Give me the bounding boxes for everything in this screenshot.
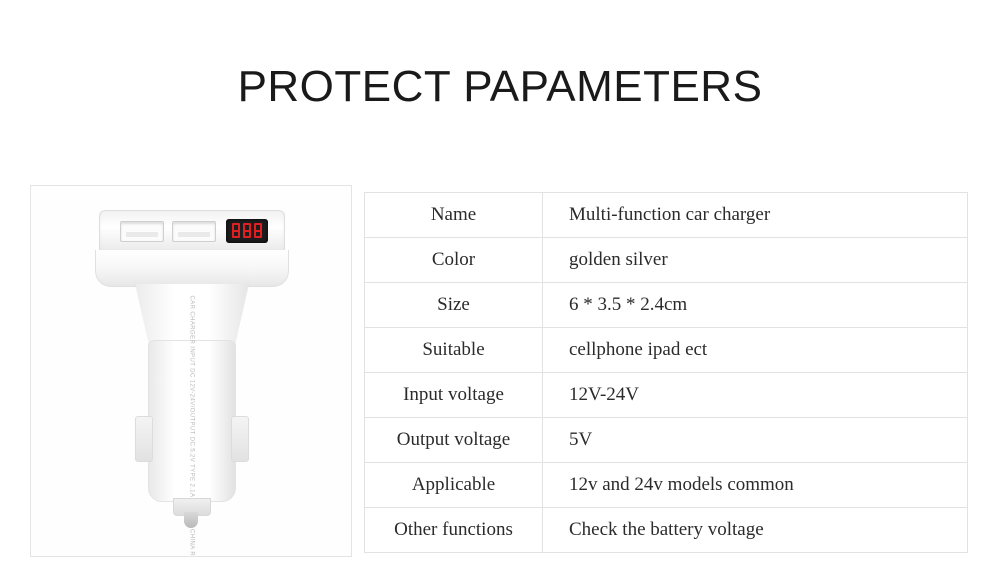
spec-label: Input voltage (365, 373, 543, 418)
spec-label: Name (365, 193, 543, 238)
spec-label: Color (365, 238, 543, 283)
specification-table: Name Multi-function car charger Color go… (364, 192, 968, 553)
spec-label: Output voltage (365, 418, 543, 463)
charger-head (99, 210, 285, 254)
product-image-panel: CAR CHARGER INPUT DC 12V-24V/OUTPUT DC 5… (30, 185, 352, 557)
charger-tip (184, 512, 198, 528)
spec-value: cellphone ipad ect (543, 328, 968, 373)
charger-contact-clip (231, 416, 249, 462)
table-row: Input voltage 12V-24V (365, 373, 968, 418)
car-charger-illustration: CAR CHARGER INPUT DC 12V-24V/OUTPUT DC 5… (91, 198, 291, 538)
usb-port-icon (120, 221, 164, 242)
spec-value: 12v and 24v models common (543, 463, 968, 508)
table-row: Other functions Check the battery voltag… (365, 508, 968, 553)
table-row: Size 6 * 3.5 * 2.4cm (365, 283, 968, 328)
spec-label: Other functions (365, 508, 543, 553)
charger-contact-clip (135, 416, 153, 462)
table-row: Applicable 12v and 24v models common (365, 463, 968, 508)
display-digit-segment (243, 223, 251, 238)
spec-value: 12V-24V (543, 373, 968, 418)
spec-value: 5V (543, 418, 968, 463)
table-row: Output voltage 5V (365, 418, 968, 463)
voltage-display-icon (226, 219, 268, 243)
spec-label: Suitable (365, 328, 543, 373)
product-detail-page: PROTECT PAPAMETERS CAR CHARGER INPUT DC … (0, 0, 1000, 587)
charger-body-markings: CAR CHARGER INPUT DC 12V-24V/OUTPUT DC 5… (187, 296, 196, 446)
table-row: Name Multi-function car charger (365, 193, 968, 238)
display-digit-segment (254, 223, 262, 238)
spec-value: Check the battery voltage (543, 508, 968, 553)
usb-port-icon (172, 221, 216, 242)
page-title: PROTECT PAPAMETERS (0, 62, 1000, 112)
table-row: Color golden silver (365, 238, 968, 283)
spec-value: 6 * 3.5 * 2.4cm (543, 283, 968, 328)
table-row: Suitable cellphone ipad ect (365, 328, 968, 373)
display-digit-segment (232, 223, 240, 238)
spec-value: Multi-function car charger (543, 193, 968, 238)
charger-shoulder (95, 250, 289, 287)
spec-label: Size (365, 283, 543, 328)
spec-value: golden silver (543, 238, 968, 283)
spec-label: Applicable (365, 463, 543, 508)
